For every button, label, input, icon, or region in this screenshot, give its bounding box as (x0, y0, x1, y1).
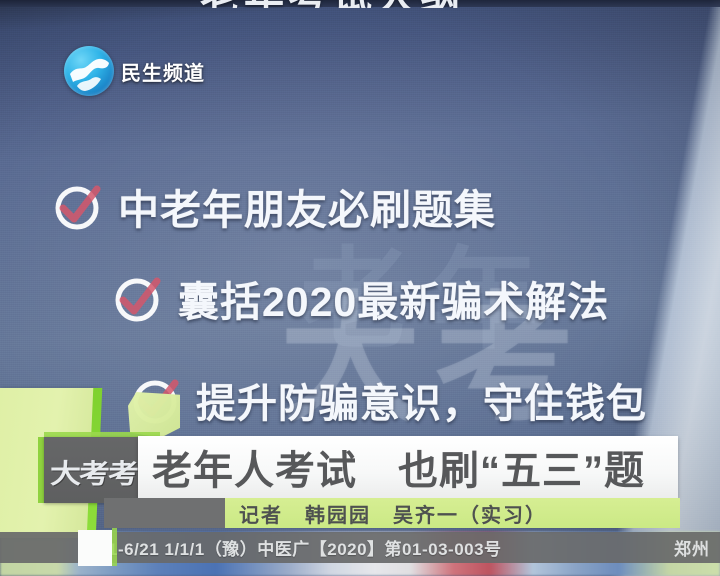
tv-broadcast-frame: 老年考试大纲 老年 大考 民生频道 中老年朋友必刷题集 (0, 0, 720, 576)
poster-bullet-row: 囊括2020最新骗术解法 (112, 268, 609, 328)
circle-check-icon (52, 181, 102, 231)
ticker-green-sliver (112, 528, 117, 566)
poster-bullet-text: 提升防骗意识，守住钱包 (196, 371, 647, 429)
lower-third-headline-bar: 老年人考试 也刷“五三”题 (138, 436, 678, 498)
ticker-white-patch (78, 530, 112, 566)
circle-check-icon (112, 273, 162, 323)
lower-third-headline-text: 老年人考试 也刷“五三”题 (138, 438, 645, 496)
lower-third-subline-gray-block (104, 498, 228, 528)
lower-third-subline-text: 记者 韩园园 吴齐一（实习） (225, 499, 547, 528)
poster-bullet-text: 囊括2020最新骗术解法 (178, 268, 609, 328)
poster-bullet-row: 中老年朋友必刷题集 (52, 176, 496, 236)
ticker-right-text: 郑州 (674, 535, 710, 560)
ticker-text: 1-6/21 1/1/1（豫）中医广【2020】第01-03-003号 (108, 535, 502, 560)
poster-bullet-text: 中老年朋友必刷题集 (118, 176, 496, 236)
poster-bullet-row: 提升防骗意识，守住钱包 (130, 371, 647, 429)
lower-third-subline-bar: 记者 韩园园 吴齐一（实习） (225, 498, 680, 528)
